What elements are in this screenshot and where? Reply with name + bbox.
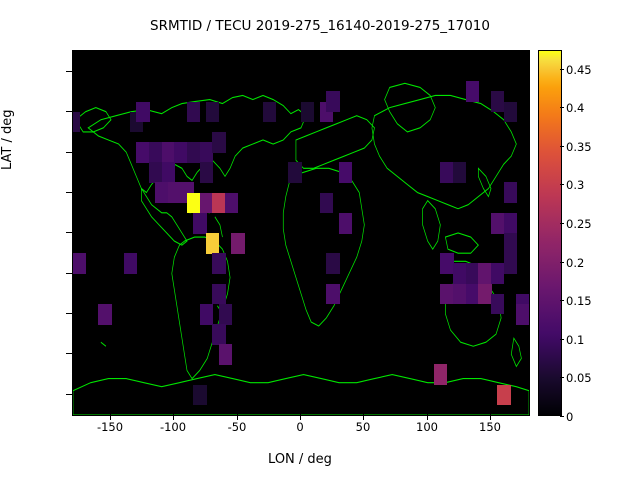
cbar-tickmark (560, 146, 564, 147)
heatmap-cell (98, 304, 111, 325)
heatmap-cell (200, 162, 213, 183)
cbar-tickmark (560, 107, 564, 108)
heatmap-cell (326, 91, 339, 112)
heatmap-cell (504, 213, 517, 234)
heatmap-cell (231, 233, 244, 254)
heatmap-cell (504, 102, 517, 123)
heatmap-cell (136, 102, 149, 123)
heatmap-cell (491, 263, 504, 284)
x-tick-m50: -50 (207, 420, 267, 434)
heatmap-cell (466, 284, 479, 305)
heatmap-cell (504, 233, 517, 254)
heatmap-cell (453, 162, 466, 183)
heatmap-cell (212, 284, 225, 305)
heatmap-cell (491, 213, 504, 234)
x-tick-m150: -150 (80, 420, 140, 434)
heatmap-cell (466, 81, 479, 102)
heatmap-cell (339, 213, 352, 234)
chart-title: SRMTID / TECU 2019-275_16140-2019-275_17… (0, 18, 640, 34)
heatmap-cell (434, 364, 447, 385)
heatmap-cell (162, 142, 175, 163)
y-axis-label-wrap: LAT / deg (0, 170, 61, 185)
heatmap-cell (440, 284, 453, 305)
colorbar-gradient (539, 51, 561, 415)
x-tick-50: 50 (333, 420, 393, 434)
heatmap-cell (206, 233, 219, 254)
heatmap-cell (136, 142, 149, 163)
heatmap-cell (193, 213, 206, 234)
heatmap-cell (263, 102, 276, 123)
heatmap-cell (466, 263, 479, 284)
heatmap-cell (326, 284, 339, 305)
heatmap-cell (124, 253, 137, 274)
cbar-tick-025: 0.25 (566, 217, 592, 231)
heatmap-cell (504, 182, 517, 203)
heatmap-cell (212, 132, 225, 153)
heatmap-cell (219, 344, 232, 365)
heatmap-cell (72, 112, 80, 133)
heatmap-cell (453, 263, 466, 284)
heatmap-cell (288, 162, 301, 183)
cbar-tick-015: 0.15 (566, 294, 592, 308)
heatmap-cell (149, 162, 162, 183)
heatmap-cell (301, 102, 314, 123)
x-tick-m100: -100 (143, 420, 203, 434)
colorbar (538, 50, 562, 416)
heatmap-cell (162, 162, 175, 183)
heatmap-cell (200, 304, 213, 325)
heatmap-cell (200, 193, 213, 214)
cbar-tick-045: 0.45 (566, 63, 592, 77)
cbar-tick-005: 0.05 (566, 371, 592, 385)
x-tick-0: 0 (270, 420, 330, 434)
heatmap-cell (212, 324, 225, 345)
heatmap-cell (187, 193, 200, 214)
heatmap-cell (212, 253, 225, 274)
heatmap-cell (516, 304, 529, 325)
heatmap-cell (73, 253, 86, 274)
cbar-tick-035: 0.35 (566, 140, 592, 154)
cbar-tickmark (560, 377, 564, 378)
heatmap-cell (187, 142, 200, 163)
cbar-tickmark (560, 262, 564, 263)
heatmap-cell (225, 193, 238, 214)
x-tick-100: 100 (397, 420, 457, 434)
heatmap-cell (155, 182, 168, 203)
cbar-tickmark (560, 184, 564, 185)
cbar-tickmark (560, 300, 564, 301)
heatmap-cell (168, 182, 181, 203)
heatmap-cell (478, 284, 491, 305)
heatmap-cell (453, 284, 466, 305)
cbar-tickmark (560, 69, 564, 70)
heatmap-cell (491, 91, 504, 112)
cbar-tick-02: 0.2 (566, 256, 584, 270)
heatmap-cell (440, 162, 453, 183)
heatmap-cell (478, 263, 491, 284)
cbar-tick-04: 0.4 (566, 101, 584, 115)
heatmap-cell (504, 253, 517, 274)
heatmap-cell (440, 253, 453, 274)
x-axis-label: LON / deg (72, 452, 528, 467)
heatmap-cell (193, 385, 206, 406)
heatmap-cell (200, 142, 213, 163)
cbar-tick-0: 0 (566, 410, 573, 424)
cbar-tickmark (560, 416, 564, 417)
heatmap-cell (206, 102, 219, 123)
chart-root: SRMTID / TECU 2019-275_16140-2019-275_17… (0, 0, 640, 480)
map-plot-area[interactable] (72, 50, 530, 416)
x-tick-150: 150 (460, 420, 520, 434)
cbar-tickmark (560, 339, 564, 340)
cbar-tickmark (560, 223, 564, 224)
heatmap-cell (497, 385, 510, 406)
heatmap-cell (174, 142, 187, 163)
heatmap-cell (187, 102, 200, 123)
cbar-tick-01: 0.1 (566, 333, 584, 347)
heatmap-cell (219, 304, 232, 325)
heatmap-cell (320, 193, 333, 214)
heatmap-cell (491, 294, 504, 315)
heatmap-cell (149, 142, 162, 163)
heatmap-cell (212, 193, 225, 214)
y-axis-label: LAT / deg (0, 109, 15, 170)
heatmap-cell (326, 253, 339, 274)
cbar-tick-03: 0.3 (566, 178, 584, 192)
heatmap-cell (339, 162, 352, 183)
